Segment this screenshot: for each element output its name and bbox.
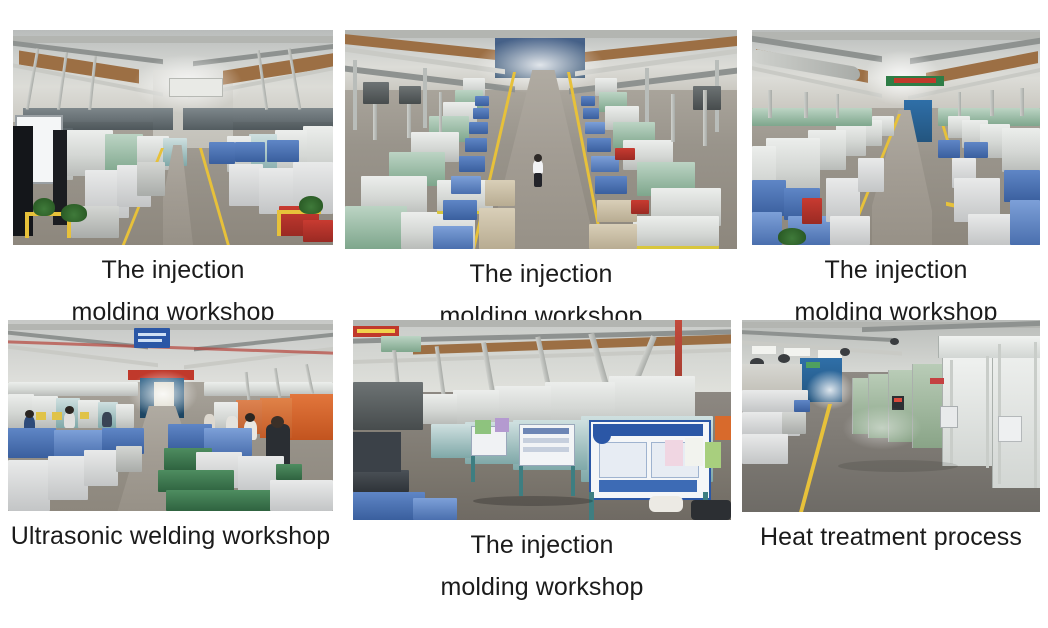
workshop-photo-6[interactable] [742, 320, 1040, 512]
photo-gallery: The injection molding workshop [0, 0, 1048, 628]
gallery-item-5[interactable]: The injection molding workshop [353, 320, 731, 608]
workshop-photo-5[interactable] [353, 320, 731, 520]
workshop-photo-2[interactable] [345, 30, 737, 249]
workshop-photo-1[interactable] [13, 30, 333, 245]
workshop-photo-3[interactable] [752, 30, 1040, 245]
gallery-item-2[interactable]: The injection molding workshop [345, 30, 737, 337]
caption-5: The injection molding workshop [353, 520, 731, 608]
caption-6: Heat treatment process [742, 512, 1040, 558]
gallery-item-1[interactable]: The injection molding workshop [13, 30, 333, 333]
gallery-item-3[interactable]: The injection molding workshop [752, 30, 1040, 333]
workshop-photo-4[interactable] [8, 320, 333, 511]
gallery-item-6[interactable]: Heat treatment process [742, 320, 1040, 558]
gallery-item-4[interactable]: Ultrasonic welding workshop [8, 320, 333, 557]
caption-4: Ultrasonic welding workshop [8, 511, 333, 557]
